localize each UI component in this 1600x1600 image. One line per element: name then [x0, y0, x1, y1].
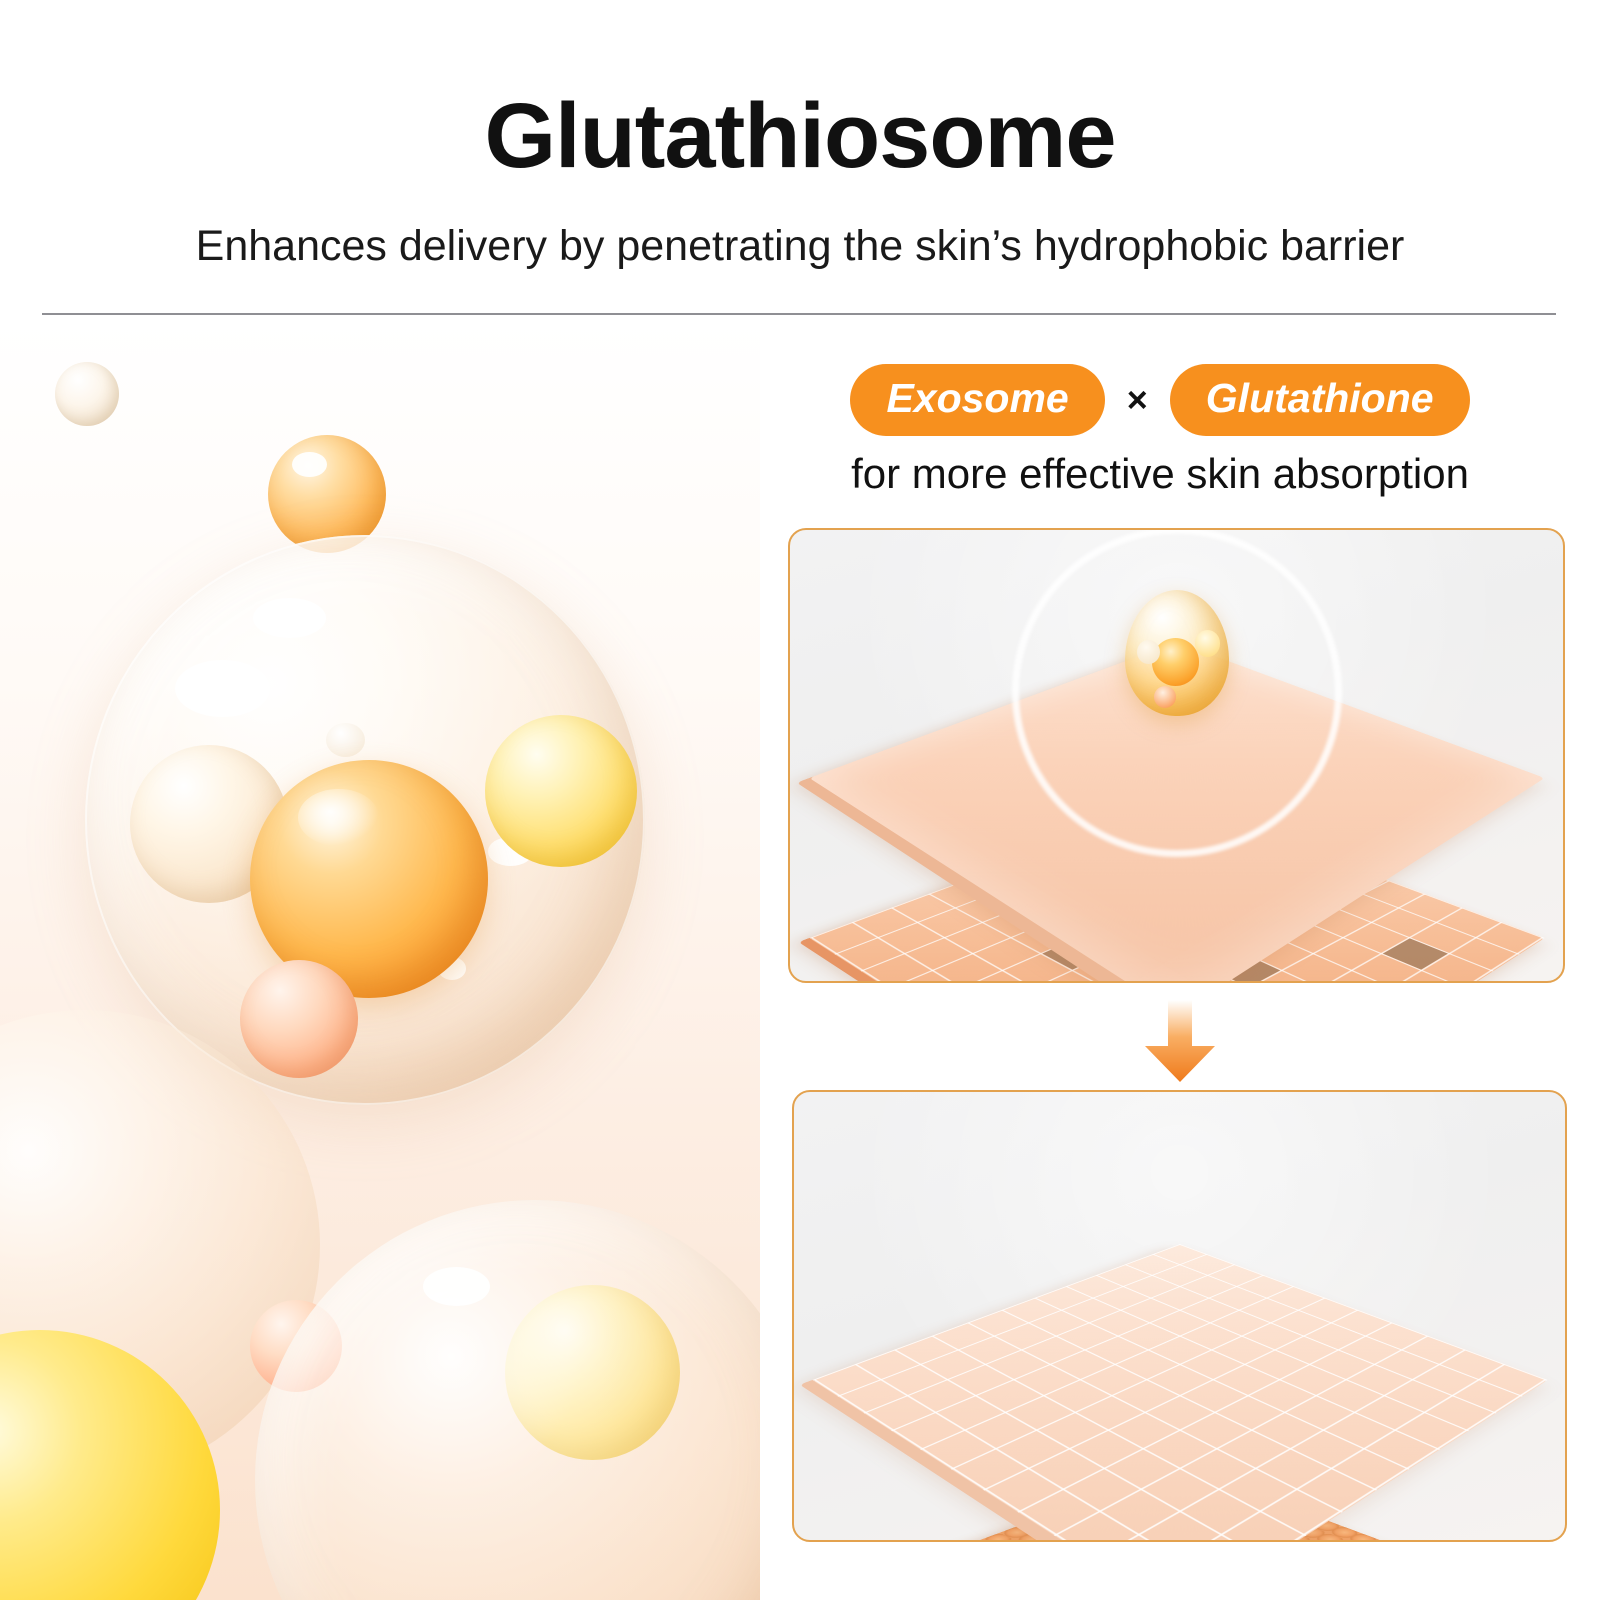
bubble-illustration [0, 320, 760, 1600]
diagram-column: Exosome × Glutathione for more effective… [760, 320, 1600, 1600]
bubble-peach [240, 960, 358, 1078]
page-subtitle: Enhances delivery by penetrating the ski… [0, 222, 1600, 271]
highlight-dot [423, 1267, 490, 1306]
badge-exosome[interactable]: Exosome [850, 364, 1104, 436]
glutathiosome-droplet [1125, 590, 1229, 716]
page-title: Glutathiosome [0, 88, 1600, 185]
vesicle-lower [255, 1200, 760, 1600]
badge-glutathione[interactable]: Glutathione [1170, 364, 1470, 436]
droplet-satellite [1137, 640, 1160, 664]
barrier-layer-wrap-after [920, 1120, 1440, 1542]
tile-texture [812, 1244, 1547, 1542]
bubble-yellow [485, 715, 637, 867]
badge-caption: for more effective skin absorption [760, 450, 1560, 498]
bubble-white-small [55, 362, 119, 426]
panel-droplet-on-surface [788, 528, 1565, 983]
droplet-core [1152, 638, 1200, 686]
panel-droplet-absorbed [792, 1090, 1567, 1542]
ingredient-badge-row: Exosome × Glutathione [760, 364, 1560, 436]
highlight-dot [175, 660, 270, 717]
multiply-icon: × [1127, 382, 1148, 418]
micro-bubble [326, 723, 365, 757]
header-divider [42, 313, 1556, 315]
page-header: Glutathiosome Enhances delivery by penet… [0, 0, 1600, 320]
highlight-dot [253, 598, 326, 638]
epidermis-tile-layer-after [812, 1244, 1547, 1542]
droplet-satellite [1154, 686, 1177, 709]
highlight-dot [292, 452, 327, 478]
droplet-satellite [1195, 630, 1220, 656]
downward-arrow-icon [1141, 1000, 1219, 1082]
